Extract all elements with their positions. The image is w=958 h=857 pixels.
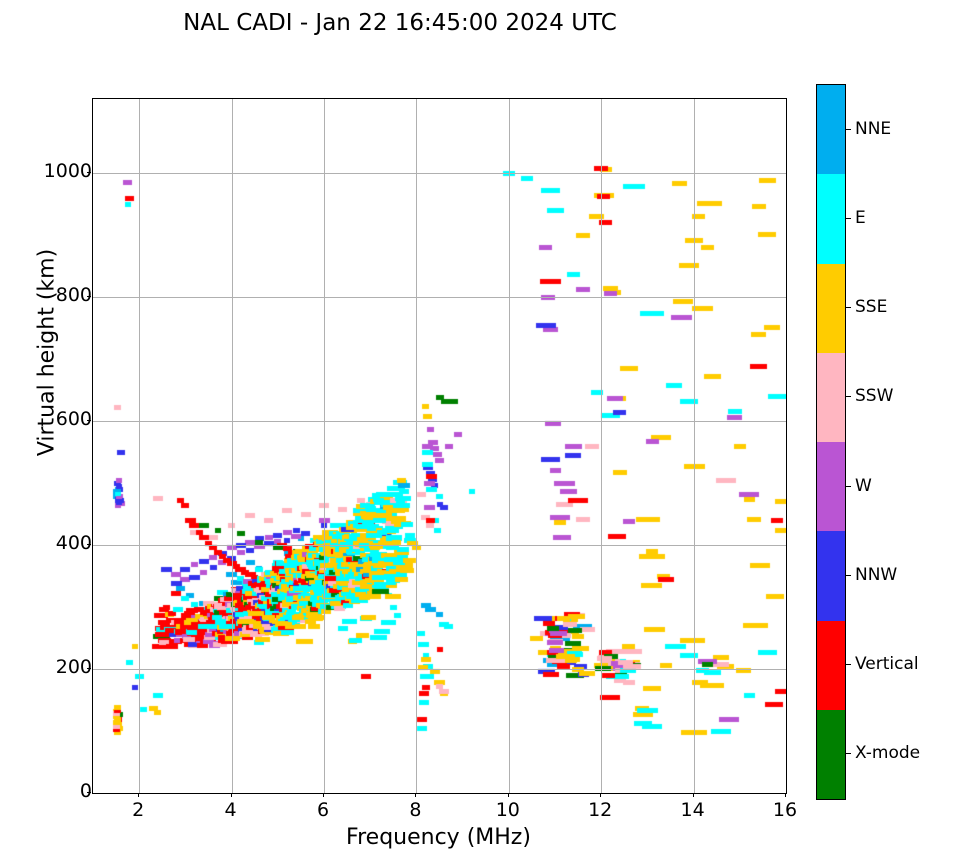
colorbar-tick	[846, 307, 851, 308]
colorbar-segment-x-mode[interactable]	[817, 710, 845, 799]
ionogram-figure: NAL CADI - Jan 22 16:45:00 2024 UTC Freq…	[0, 0, 958, 857]
gridline-vertical	[324, 99, 325, 793]
gridline-vertical	[509, 99, 510, 793]
colorbar-segment-vertical[interactable]	[817, 621, 845, 710]
gridline-vertical	[139, 99, 140, 793]
x-tick-mark	[508, 793, 509, 797]
colorbar-tick	[846, 486, 851, 487]
y-tick-label: 200	[0, 656, 92, 678]
azimuth-colorbar[interactable]	[816, 84, 846, 800]
x-tick-label: 2	[108, 799, 168, 821]
x-tick-mark	[415, 793, 416, 797]
colorbar-segment-nnw[interactable]	[817, 531, 845, 620]
y-tick-label: 600	[0, 408, 92, 430]
colorbar-segment-ssw[interactable]	[817, 353, 845, 442]
page-title: NAL CADI - Jan 22 16:45:00 2024 UTC	[0, 10, 800, 36]
colorbar-label-sse: SSE	[855, 297, 887, 317]
x-axis-label: Frequency (MHz)	[92, 825, 785, 850]
x-tick-label: 4	[201, 799, 261, 821]
gridline-horizontal	[93, 421, 786, 422]
y-axis-label: Virtual height (km)	[35, 153, 60, 553]
y-tick-label: 0	[0, 780, 92, 802]
y-tick-label: 1000	[0, 160, 92, 182]
gridline-vertical	[232, 99, 233, 793]
x-tick-label: 8	[385, 799, 445, 821]
ionogram-scatter-canvas	[93, 99, 786, 793]
colorbar-tick	[846, 396, 851, 397]
colorbar-tick	[846, 664, 851, 665]
x-tick-label: 6	[293, 799, 353, 821]
gridline-horizontal	[93, 545, 786, 546]
colorbar-segment-w[interactable]	[817, 442, 845, 531]
x-tick-mark	[138, 793, 139, 797]
colorbar-label-x-mode: X-mode	[855, 743, 920, 763]
x-tick-mark	[785, 793, 786, 797]
x-tick-mark	[323, 793, 324, 797]
gridline-horizontal	[93, 173, 786, 174]
colorbar-label-nne: NNE	[855, 119, 891, 139]
colorbar-tick	[846, 129, 851, 130]
gridline-vertical	[601, 99, 602, 793]
colorbar-label-nnw: NNW	[855, 565, 897, 585]
gridline-vertical	[786, 99, 787, 793]
x-tick-label: 12	[570, 799, 630, 821]
x-tick-label: 14	[663, 799, 723, 821]
plot-area	[92, 98, 787, 794]
colorbar-segment-sse[interactable]	[817, 264, 845, 353]
x-tick-mark	[693, 793, 694, 797]
colorbar-label-ssw: SSW	[855, 386, 893, 406]
y-tick-label: 800	[0, 284, 92, 306]
colorbar-tick	[846, 753, 851, 754]
colorbar-label-vertical: Vertical	[855, 654, 919, 674]
x-tick-label: 16	[755, 799, 815, 821]
x-tick-mark	[231, 793, 232, 797]
gridline-horizontal	[93, 297, 786, 298]
gridline-vertical	[416, 99, 417, 793]
x-tick-mark	[600, 793, 601, 797]
x-tick-label: 10	[478, 799, 538, 821]
colorbar-label-e: E	[855, 208, 866, 228]
colorbar-segment-e[interactable]	[817, 174, 845, 263]
gridline-horizontal	[93, 669, 786, 670]
colorbar-tick	[846, 575, 851, 576]
colorbar-tick	[846, 218, 851, 219]
colorbar-label-w: W	[855, 476, 872, 496]
y-tick-label: 400	[0, 532, 92, 554]
gridline-vertical	[694, 99, 695, 793]
colorbar-segment-nne[interactable]	[817, 85, 845, 174]
